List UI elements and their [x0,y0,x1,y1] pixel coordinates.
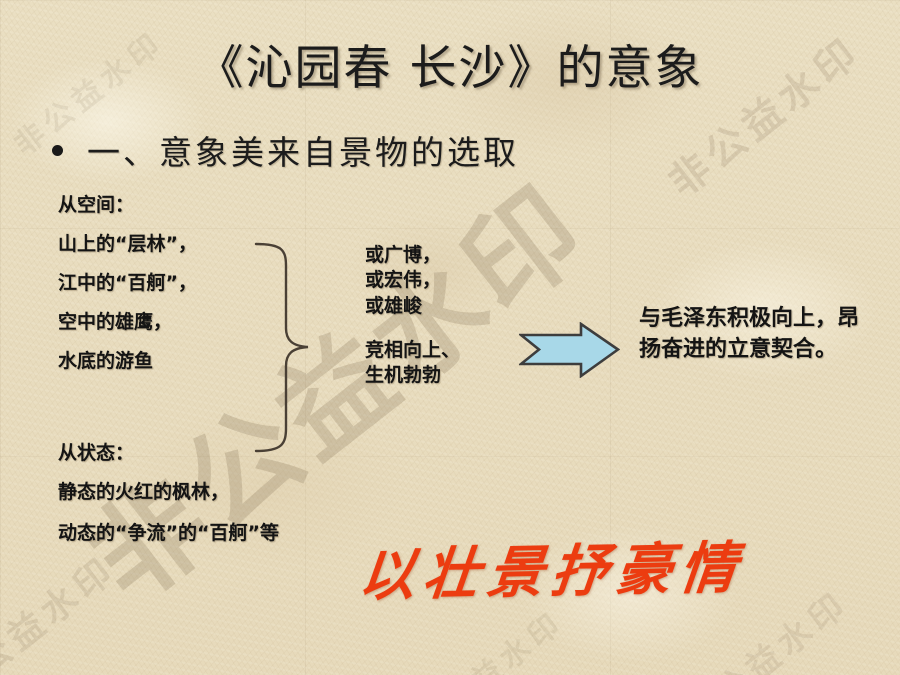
watermark-text-tile-2: 非公益水印 [0,542,125,675]
vitality-group: 竞相向上、 生机勃勃 [365,338,460,389]
slide-title: 《沁园春 长沙》的意象 [0,42,900,96]
space-group: 从空间： 山上的“层林”， 江中的“百舸”， 空中的雄鹰， 水底的游鱼 [58,196,197,371]
vitality-item: 竞相向上、 [365,338,460,363]
space-item: 江中的“百舸”， [58,274,197,293]
right-curly-brace-icon [252,240,322,459]
calligraphy-caption: 以壮景抒豪情 [355,523,748,612]
space-item: 水底的游鱼 [58,352,197,371]
quality-item: 或宏伟， [365,268,441,293]
space-group-heading: 从空间： [58,196,197,215]
bullet-item-1: 一、意象美来自景物的选取 [52,126,519,174]
quality-item: 或雄峻 [365,294,441,319]
bullet-item-1-label: 一、意象美来自景物的选取 [87,126,519,174]
bullet-dot-icon [52,145,63,156]
slide-canvas: 非公益水印 非公益水印 非公益水印 非公益水印 非公益水印 非公益水印 《沁园春… [0,0,900,675]
vitality-item: 生机勃勃 [365,363,460,388]
state-item: 动态的“争流”的“百舸”等 [58,522,303,546]
right-arrow-icon [519,322,620,382]
space-item: 山上的“层林”， [58,235,197,254]
quality-item: 或广博， [365,243,441,268]
quality-group: 或广博， 或宏伟， 或雄峻 [365,243,441,319]
space-item: 空中的雄鹰， [58,313,197,332]
state-group: 从状态： 静态的火红的枫林， 动态的“争流”的“百舸”等 [58,444,303,546]
conclusion-text: 与毛泽东积极向上，昂扬奋进的立意契合。 [639,304,867,366]
state-item: 静态的火红的枫林， [58,483,303,502]
